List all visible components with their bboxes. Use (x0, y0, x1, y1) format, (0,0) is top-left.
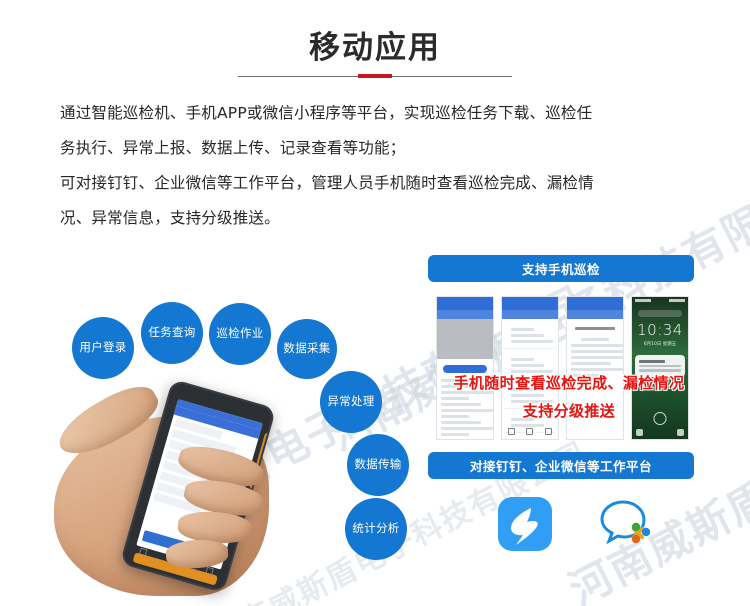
screenshot-detail (566, 296, 624, 440)
lock-shortcuts (632, 429, 688, 436)
banner-supports-mobile-inspection: 支持手机巡检 (428, 255, 694, 282)
detail-title (575, 327, 615, 330)
tab-home-icon[interactable] (508, 428, 515, 435)
text-line (441, 433, 469, 436)
text-line (511, 388, 534, 391)
text-line (511, 400, 553, 403)
status-bar (632, 297, 688, 304)
text-line (441, 415, 469, 418)
status-bar (567, 297, 623, 310)
page-title: 移动应用 (0, 22, 750, 67)
text-line (441, 391, 493, 394)
flow-node-statistics[interactable]: 统计分析 (345, 498, 407, 560)
screenshot-task-list (501, 296, 559, 440)
camera-icon[interactable] (677, 429, 684, 436)
flow-node-inspection[interactable]: 巡检作业 (209, 303, 271, 365)
primary-button[interactable] (443, 365, 487, 373)
notification-line (639, 365, 681, 368)
flashlight-icon[interactable] (636, 429, 643, 436)
description-line-2: 务执行、异常上报、数据上传、记录查看等功能； (60, 131, 705, 166)
list-item[interactable] (505, 383, 555, 409)
description-line-4: 况、异常信息，支持分级推送。 (60, 201, 705, 236)
battery-icon (669, 299, 685, 302)
lock-date: 6月10日 星期五 (632, 341, 688, 347)
mobile-application-page: 移动应用 通过智能巡检机、手机APP或微信小程序等平台，实现巡检任务下载、巡检任… (0, 0, 750, 606)
tab-bar (502, 428, 558, 435)
text-line (441, 421, 481, 424)
tab-tasks-icon[interactable] (526, 428, 533, 435)
screenshot-lock-push: 10:34 6月10日 星期五 (631, 296, 689, 440)
text-line (441, 409, 493, 412)
text-line (511, 328, 534, 331)
wecom-icon[interactable] (596, 496, 654, 552)
flow-node-data-collect[interactable]: 数据采集 (277, 319, 337, 379)
divider-line-left (238, 76, 358, 77)
text-line (571, 368, 623, 371)
notification-pill (638, 310, 682, 317)
dingtalk-icon[interactable] (498, 497, 552, 551)
title-bar (567, 310, 623, 319)
form-panel (437, 319, 493, 359)
text-line (441, 439, 481, 440)
status-bar (437, 297, 493, 310)
text-line (511, 340, 553, 343)
text-line (441, 427, 493, 430)
text-line (441, 385, 481, 388)
text-line (441, 397, 469, 400)
text-line (441, 403, 481, 406)
text-line (511, 370, 553, 373)
text-line (511, 418, 534, 421)
banner-platform-integration: 对接钉钉、企业微信等工作平台 (428, 452, 694, 479)
divider-line-right (392, 76, 512, 77)
text-line (571, 350, 623, 353)
list-item[interactable] (505, 353, 555, 379)
divider-accent (358, 74, 392, 78)
text-line (441, 379, 493, 382)
text-line (571, 374, 599, 377)
text-line (581, 338, 609, 341)
description-line-3: 可对接钉钉、企业微信等工作平台，管理人员手机随时查看巡检完成、漏检情 (60, 166, 705, 201)
text-line (511, 358, 534, 361)
description-line-1: 通过智能巡检机、手机APP或微信小程序等平台，实现巡检任务下载、巡检任 (60, 96, 705, 131)
handheld-device-photo (48, 378, 348, 603)
text-line (511, 334, 544, 337)
lock-clock: 10:34 (632, 321, 688, 339)
flow-node-data-transfer[interactable]: 数据传输 (347, 434, 409, 496)
push-notification-card[interactable] (635, 355, 685, 377)
text-line (511, 394, 544, 397)
notification-title (639, 360, 665, 363)
text-line (511, 364, 544, 367)
app-screenshot-strip: 10:34 6月10日 星期五 (436, 296, 692, 440)
tab-profile-icon[interactable] (545, 428, 552, 435)
status-bar (502, 297, 558, 310)
text-line (571, 362, 611, 365)
screenshot-login (436, 296, 494, 440)
text-line (571, 344, 623, 347)
title-divider (0, 74, 750, 78)
flow-node-user-login[interactable]: 用户登录 (72, 317, 134, 379)
description-block: 通过智能巡检机、手机APP或微信小程序等平台，实现巡检任务下载、巡检任 务执行、… (60, 96, 705, 236)
title-bar (437, 310, 493, 319)
flow-node-task-query[interactable]: 任务查询 (141, 302, 203, 364)
list-item[interactable] (505, 323, 555, 349)
notification-line (639, 369, 681, 372)
title-bar (502, 310, 558, 319)
text-line (571, 356, 623, 359)
text-line (511, 424, 544, 427)
unlock-circle-icon[interactable] (654, 412, 667, 425)
carrier-icon (635, 299, 651, 302)
